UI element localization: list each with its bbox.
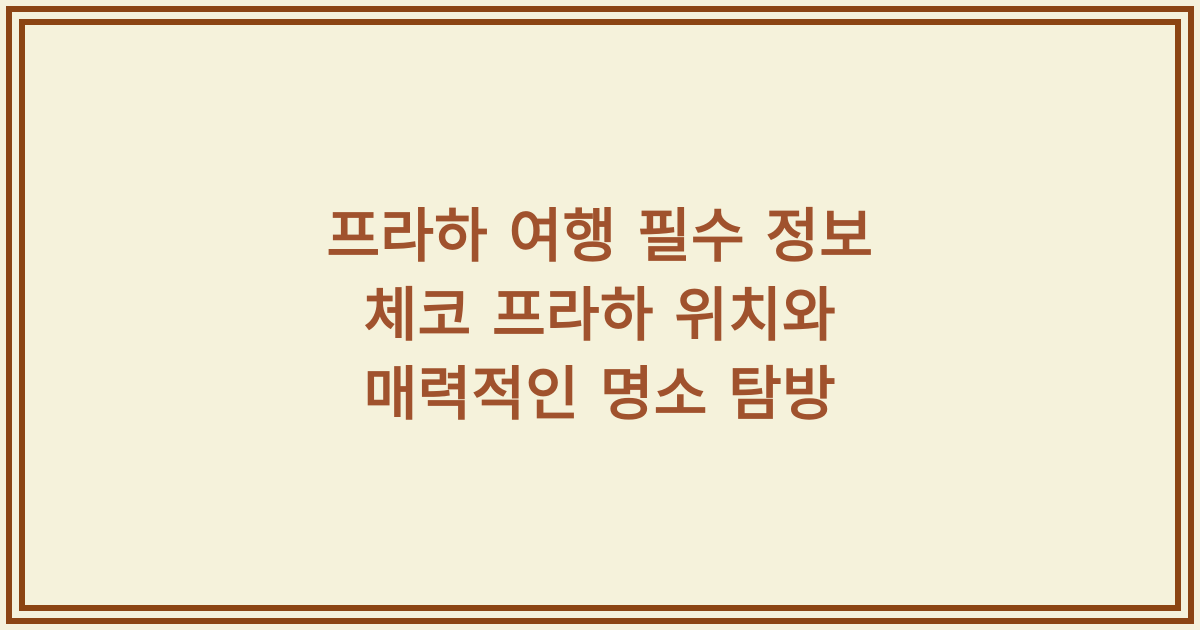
page-title: 프라하 여행 필수 정보 체코 프라하 위치와 매력적인 명소 탐방	[287, 197, 914, 434]
thumbnail-card: 프라하 여행 필수 정보 체코 프라하 위치와 매력적인 명소 탐방	[0, 0, 1200, 630]
title-line-1: 프라하 여행 필수 정보	[327, 197, 874, 276]
title-line-2: 체코 프라하 위치와	[327, 276, 874, 355]
title-block: 프라하 여행 필수 정보 체코 프라하 위치와 매력적인 명소 탐방	[25, 25, 1175, 605]
title-line-3: 매력적인 명소 탐방	[327, 355, 874, 434]
